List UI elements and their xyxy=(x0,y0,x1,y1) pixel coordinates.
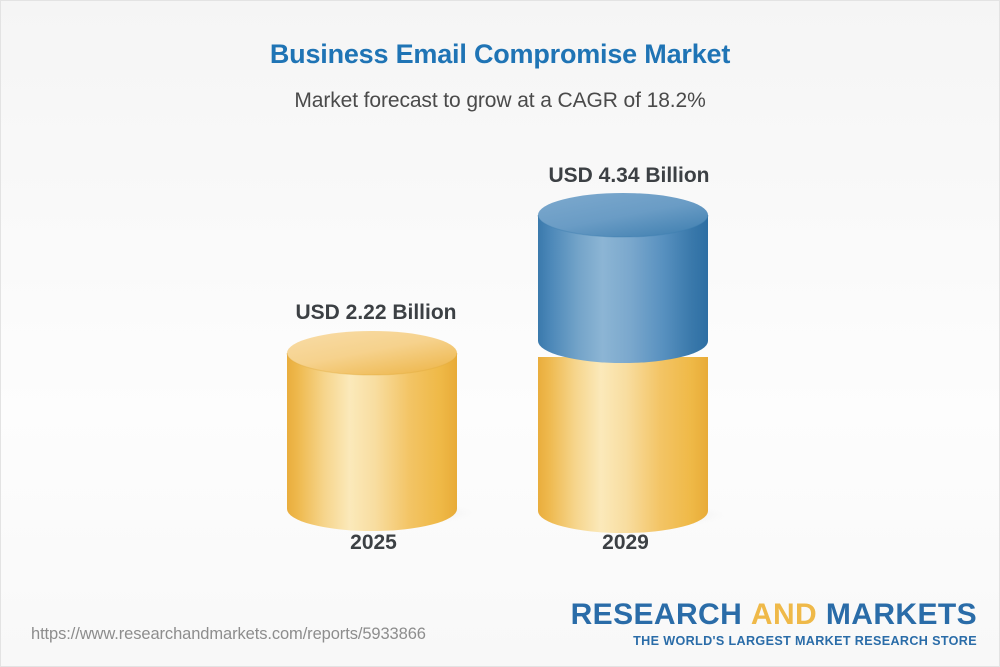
brand-word-markets: MARKETS xyxy=(826,598,977,631)
brand-logo[interactable]: RESEARCH AND MARKETS THE WORLD'S LARGEST… xyxy=(571,600,977,648)
brand-tagline: THE WORLD'S LARGEST MARKET RESEARCH STOR… xyxy=(571,635,977,648)
bar-category-label-2025: 2025 xyxy=(286,531,461,555)
bar-cylinder-2025 xyxy=(284,331,484,531)
brand-word-and: AND xyxy=(751,598,817,631)
bar-value-label-2025: USD 2.22 Billion xyxy=(266,301,486,325)
chart-canvas: Business Email Compromise Market Market … xyxy=(0,0,1000,667)
bar-cylinder-2029 xyxy=(535,193,735,533)
bar-value-label-2029: USD 4.34 Billion xyxy=(519,164,739,188)
brand-word-research: RESEARCH xyxy=(571,598,743,631)
report-url[interactable]: https://www.researchandmarkets.com/repor… xyxy=(31,625,426,644)
plot-area: USD 2.22 Billion xyxy=(1,1,1000,601)
brand-wordmark: RESEARCH AND MARKETS xyxy=(571,600,977,630)
bar-category-label-2029: 2029 xyxy=(538,531,713,555)
